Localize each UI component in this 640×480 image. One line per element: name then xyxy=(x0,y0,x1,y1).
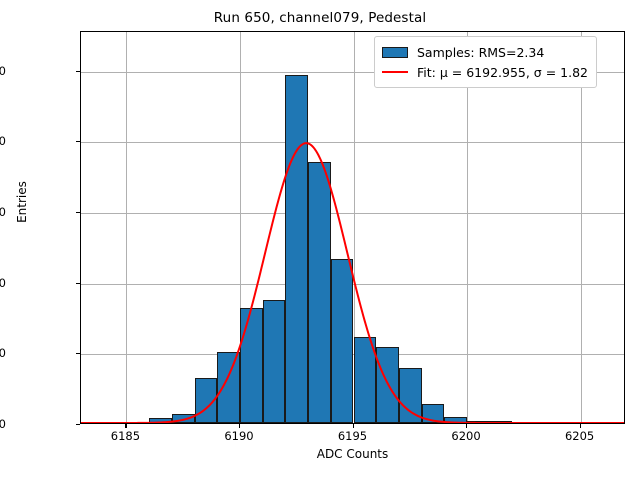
y-tick-label: 0 xyxy=(0,417,6,431)
legend: Samples: RMS=2.34 Fit: μ = 6192.955, σ =… xyxy=(374,36,597,88)
x-tick-label: 6200 xyxy=(451,429,480,443)
legend-patch-icon xyxy=(382,47,408,58)
gridline-vertical xyxy=(581,32,582,423)
x-tick-mark xyxy=(239,424,240,428)
histogram-bar xyxy=(331,259,354,423)
y-tick-label: 2500 xyxy=(0,64,6,78)
y-tick-label: 2000 xyxy=(0,134,6,148)
histogram-bar xyxy=(467,421,490,423)
x-tick-mark xyxy=(125,424,126,428)
histogram-bar xyxy=(490,421,513,423)
histogram-bar xyxy=(285,75,308,423)
histogram-bar xyxy=(354,337,377,423)
plot-area xyxy=(80,31,625,424)
y-tick-mark xyxy=(76,424,80,425)
x-tick-label: 6185 xyxy=(111,429,140,443)
legend-entry-fit: Fit: μ = 6192.955, σ = 1.82 xyxy=(382,62,588,82)
y-axis-label: Entries xyxy=(15,92,29,312)
y-tick-label: 500 xyxy=(0,346,6,360)
x-tick-label: 6195 xyxy=(338,429,367,443)
histogram-bar xyxy=(399,368,422,423)
histogram-bar xyxy=(195,378,218,423)
histogram-bar xyxy=(376,347,399,423)
histogram-bar xyxy=(149,418,172,423)
y-tick-label: 1000 xyxy=(0,276,6,290)
x-tick-mark xyxy=(580,424,581,428)
y-tick-label: 1500 xyxy=(0,205,6,219)
histogram-bar xyxy=(308,162,331,423)
legend-line-icon xyxy=(382,71,408,73)
gridline-vertical xyxy=(467,32,468,423)
histogram-bar xyxy=(263,300,286,423)
histogram-bar xyxy=(217,352,240,423)
x-axis-label: ADC Counts xyxy=(80,447,625,461)
gridline-horizontal xyxy=(81,142,624,143)
legend-label-fit: Fit: μ = 6192.955, σ = 1.82 xyxy=(417,65,588,80)
gridline-horizontal xyxy=(81,213,624,214)
x-tick-label: 6190 xyxy=(224,429,253,443)
x-tick-mark xyxy=(466,424,467,428)
legend-label-samples: Samples: RMS=2.34 xyxy=(417,45,544,60)
x-tick-label: 6205 xyxy=(565,429,594,443)
histogram-bar xyxy=(240,308,263,423)
histogram-bar xyxy=(444,417,467,423)
chart-title: Run 650, channel079, Pedestal xyxy=(0,10,640,26)
histogram-bar xyxy=(172,414,195,423)
figure-canvas: Run 650, channel079, Pedestal Entries AD… xyxy=(0,0,640,480)
histogram-bar xyxy=(422,404,445,423)
legend-entry-samples: Samples: RMS=2.34 xyxy=(382,42,588,62)
gridline-vertical xyxy=(126,32,127,423)
x-tick-mark xyxy=(353,424,354,428)
